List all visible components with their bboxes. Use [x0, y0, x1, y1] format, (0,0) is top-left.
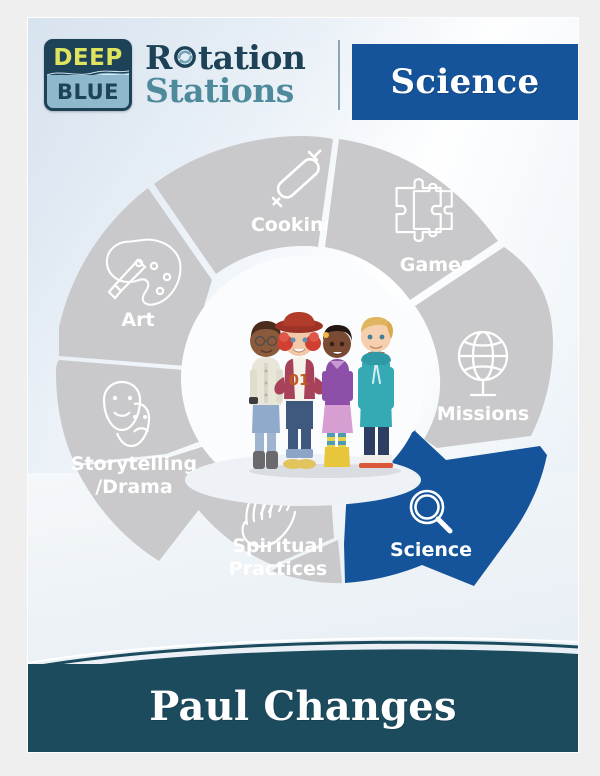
deep-blue-logo: DEEP BLUE	[44, 39, 132, 111]
station-name-banner: Science	[352, 44, 578, 120]
child-4	[358, 317, 394, 468]
header-divider	[338, 40, 340, 110]
four-children-illustration: 01	[233, 299, 418, 484]
poster-page: DEEP BLUE R	[28, 18, 578, 752]
wheel-label-storytelling-2: /Drama	[95, 476, 173, 498]
wheel-label-spiritual: Spiritual	[232, 535, 324, 557]
wheel-label-storytelling: Storytelling	[71, 453, 197, 475]
wheel-label-spiritual-2: Practices	[229, 558, 327, 580]
logo-blue-band: BLUE	[47, 75, 129, 108]
rotation-arrows-icon	[173, 45, 197, 69]
wheel-label-missions: Missions	[437, 403, 529, 425]
wheel-label-cooking: Cooking	[251, 214, 337, 236]
svg-text:01: 01	[289, 371, 310, 389]
logo-blue-text: BLUE	[57, 80, 119, 104]
page-header: DEEP BLUE R	[28, 18, 578, 130]
brand-logo-group: DEEP BLUE R	[44, 39, 305, 111]
child-3	[322, 325, 353, 467]
wheel-label-science: Science	[390, 539, 472, 561]
child-2: 01	[274, 312, 324, 469]
lesson-title: Paul Changes	[149, 683, 456, 730]
lesson-title-bg: Paul Changes	[28, 664, 578, 752]
brand-line-rotation: R tation	[145, 43, 305, 74]
lesson-title-banner: Paul Changes	[28, 634, 578, 752]
brand-wordmark: R tation Stations	[145, 43, 305, 106]
brand-rotation-suffix: tation	[198, 43, 305, 74]
wheel-label-art: Art	[121, 309, 154, 331]
brand-line-stations: Stations	[145, 76, 305, 107]
station-name-label: Science	[391, 62, 540, 102]
wheel-label-games: Games	[400, 254, 472, 276]
brand-rotation-prefix: R	[145, 43, 172, 74]
